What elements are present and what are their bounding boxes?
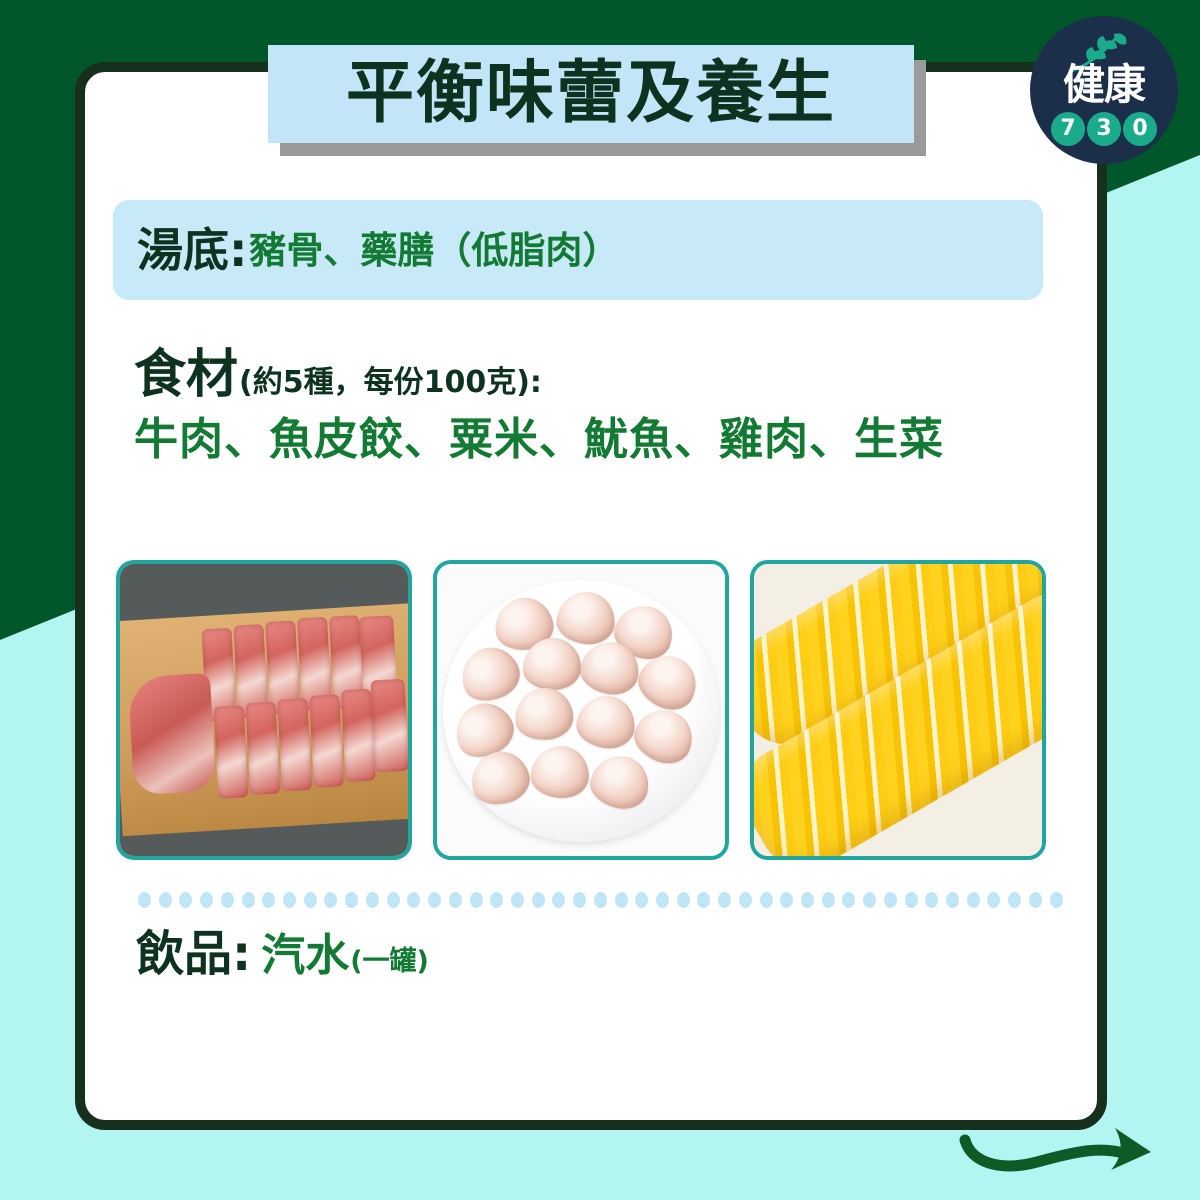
drink-note: (一罐) bbox=[350, 948, 429, 975]
soup-base-row: 湯底: 豬骨、藥膳（低脂肉） bbox=[113, 200, 1043, 300]
title-banner: 平衡味蕾及養生 bbox=[268, 45, 914, 143]
top-green-band bbox=[0, 0, 1200, 46]
logo-number-3: 3 bbox=[1087, 112, 1121, 146]
soup-base-value: 豬骨、藥膳（低脂肉） bbox=[249, 232, 619, 269]
photo-corn-cobs bbox=[750, 560, 1046, 860]
brand-logo[interactable]: 健康 7 3 0 bbox=[1030, 16, 1178, 164]
logo-number-group: 7 3 0 bbox=[1030, 112, 1178, 146]
drink-section: 飲品: 汽水 (一罐) bbox=[136, 930, 429, 978]
ingredients-heading-row: 食材 (約5種，每份100克): bbox=[134, 348, 1064, 403]
photo-sliced-beef bbox=[116, 560, 412, 860]
curved-arrow-right-icon bbox=[955, 1118, 1165, 1193]
drink-label: 飲品: bbox=[136, 930, 251, 978]
logo-wordmark: 健康 bbox=[1030, 64, 1178, 106]
page-title: 平衡味蕾及養生 bbox=[346, 60, 836, 128]
poster-root: 平衡味蕾及養生 健康 7 3 0 湯底: 豬骨、藥膳（低脂肉） 食材 (約5種，… bbox=[0, 0, 1200, 1200]
photo-fish-skin-dumplings bbox=[433, 560, 729, 860]
soup-base-label: 湯底: bbox=[137, 227, 247, 273]
beef-large-slice bbox=[128, 673, 216, 795]
ingredients-label: 食材 bbox=[134, 348, 238, 403]
logo-number-7: 7 bbox=[1051, 112, 1085, 146]
ingredients-list: 牛肉、魚皮餃、粟米、魷魚、雞肉、生菜 bbox=[134, 416, 1064, 464]
drink-value: 汽水 bbox=[261, 934, 349, 978]
logo-number-0: 0 bbox=[1123, 112, 1157, 146]
beef-slices-group bbox=[124, 619, 412, 808]
dotted-divider bbox=[138, 890, 1063, 910]
ingredients-section: 食材 (約5種，每份100克): 牛肉、魚皮餃、粟米、魷魚、雞肉、生菜 bbox=[134, 348, 1064, 464]
ingredients-note: (約5種，每份100克): bbox=[239, 367, 542, 399]
food-photo-strip bbox=[116, 560, 1066, 860]
